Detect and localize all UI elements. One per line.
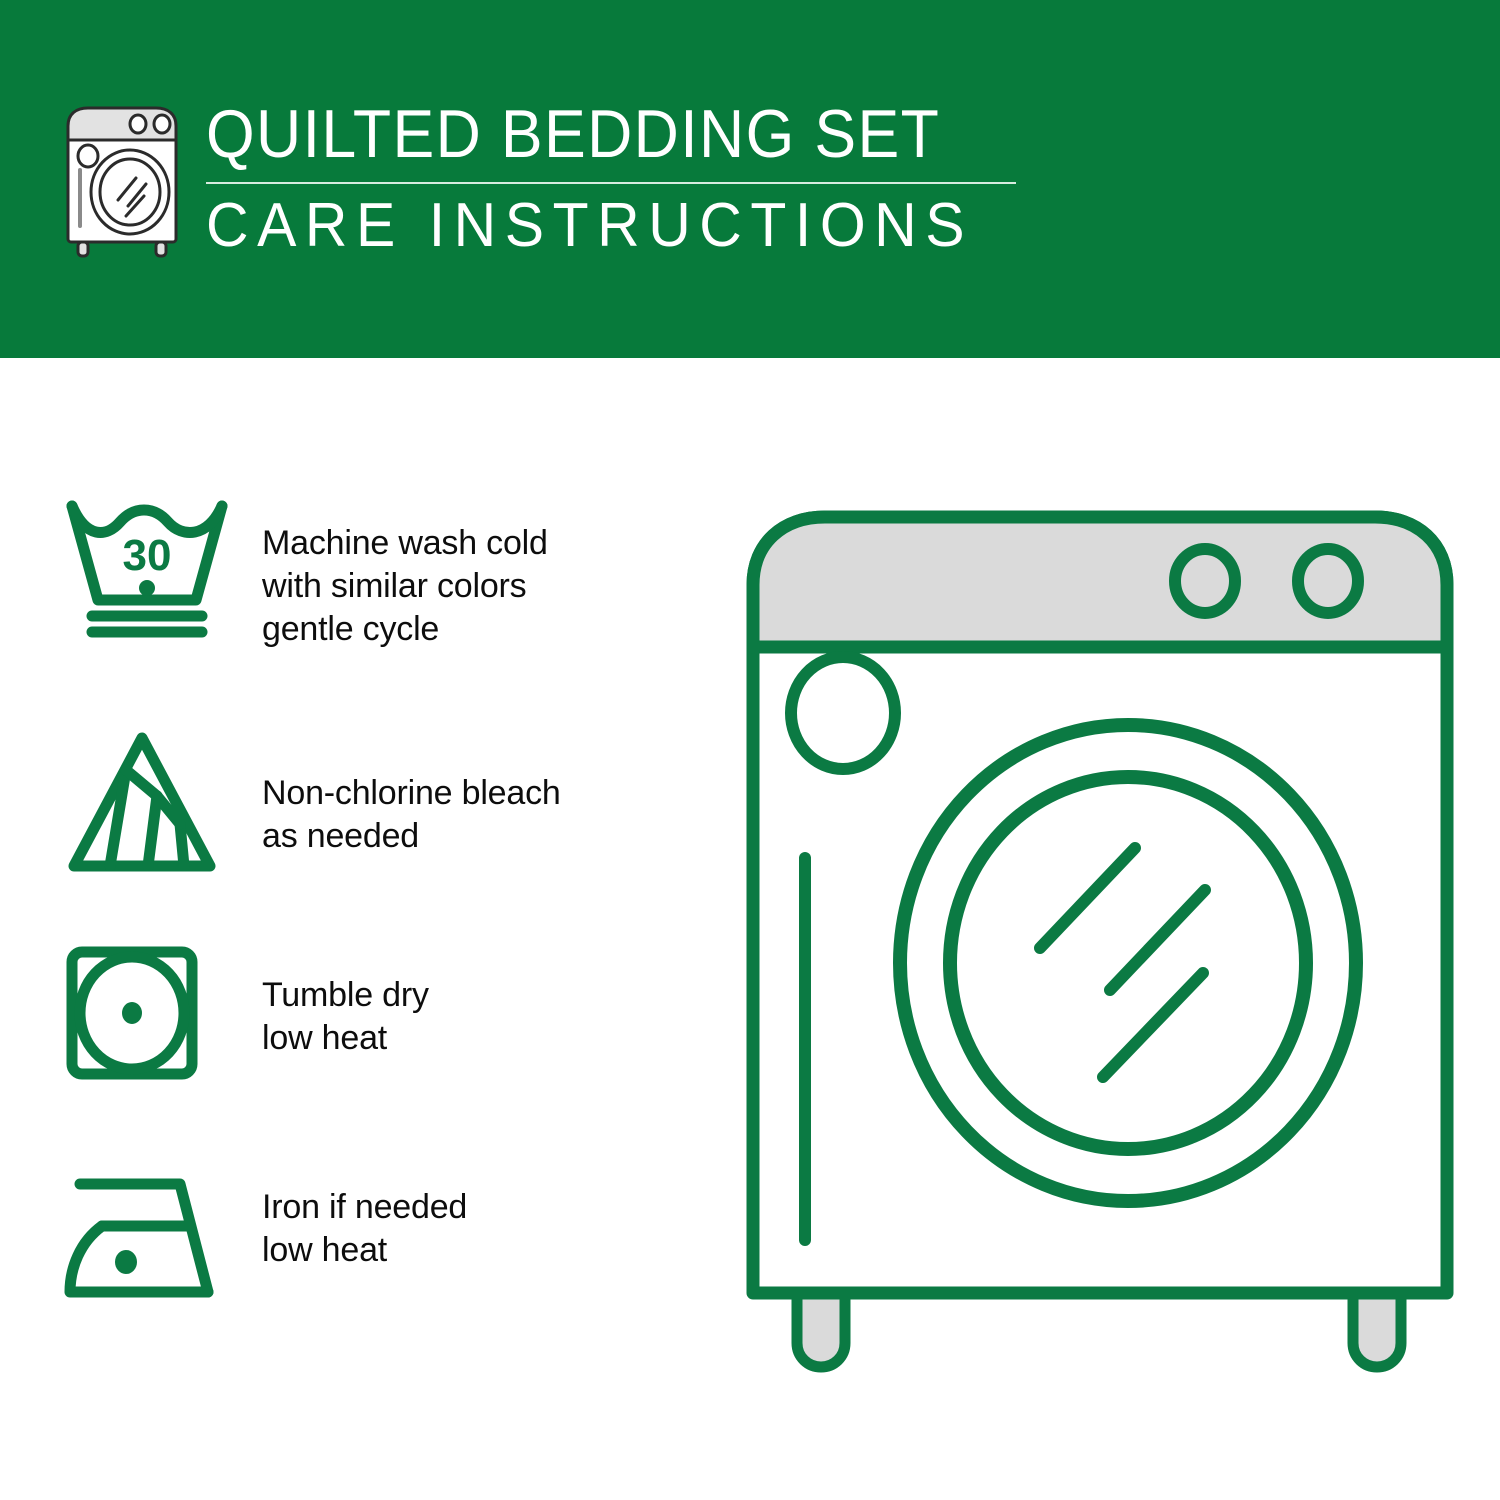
machine-wash-tub-icon: 30 [62, 492, 232, 640]
iron-icon [62, 1168, 222, 1308]
care-icon-slot [62, 936, 262, 1084]
care-instructions-infographic: QUILTED BEDDING SET CARE INSTRUCTIONS [0, 0, 1500, 1500]
care-text-dry: Tumble dry low heat [262, 936, 722, 1060]
care-icon-slot [62, 714, 262, 876]
header-content: QUILTED BEDDING SET CARE INSTRUCTIONS [62, 96, 1062, 276]
non-chlorine-bleach-triangle-icon [62, 726, 222, 876]
care-icon-slot: 30 [62, 492, 262, 640]
care-text-wash: Machine wash cold with similar colors ge… [262, 492, 722, 651]
care-text-line: Tumble dry [262, 974, 722, 1017]
title-divider [206, 182, 1016, 184]
care-text-line: low heat [262, 1017, 722, 1060]
care-text-line: low heat [262, 1229, 722, 1272]
header-banner: QUILTED BEDDING SET CARE INSTRUCTIONS [0, 0, 1500, 358]
tumble-dry-icon [62, 942, 202, 1084]
care-text-line: Non-chlorine bleach [262, 772, 722, 815]
page-title: QUILTED BEDDING SET [206, 98, 994, 170]
care-text-line: as needed [262, 815, 722, 858]
wash-temperature-label: 30 [123, 531, 172, 580]
care-row-wash: 30 Machine wash cold with similar colors… [62, 492, 722, 714]
care-text-iron: Iron if needed low heat [262, 1158, 722, 1272]
detergent-port [791, 657, 895, 769]
care-text-line: with similar colors [262, 565, 722, 608]
care-row-iron: Iron if needed low heat [62, 1158, 722, 1380]
care-text-line: Iron if needed [262, 1186, 722, 1229]
washing-machine-icon [62, 102, 190, 262]
care-symbol-list: 30 Machine wash cold with similar colors… [62, 492, 722, 1380]
care-icon-slot [62, 1158, 262, 1308]
care-text-line: Machine wash cold [262, 522, 722, 565]
front-load-washing-machine-illustration [735, 495, 1465, 1425]
page-subtitle: CARE INSTRUCTIONS [206, 192, 1019, 260]
header-title-group: QUILTED BEDDING SET CARE INSTRUCTIONS [206, 96, 1062, 260]
care-text-line: gentle cycle [262, 608, 722, 651]
knob-right[interactable] [1298, 549, 1358, 613]
knob-left[interactable] [1175, 549, 1235, 613]
care-row-bleach: Non-chlorine bleach as needed [62, 714, 722, 936]
care-row-dry: Tumble dry low heat [62, 936, 722, 1158]
care-text-bleach: Non-chlorine bleach as needed [262, 714, 722, 858]
